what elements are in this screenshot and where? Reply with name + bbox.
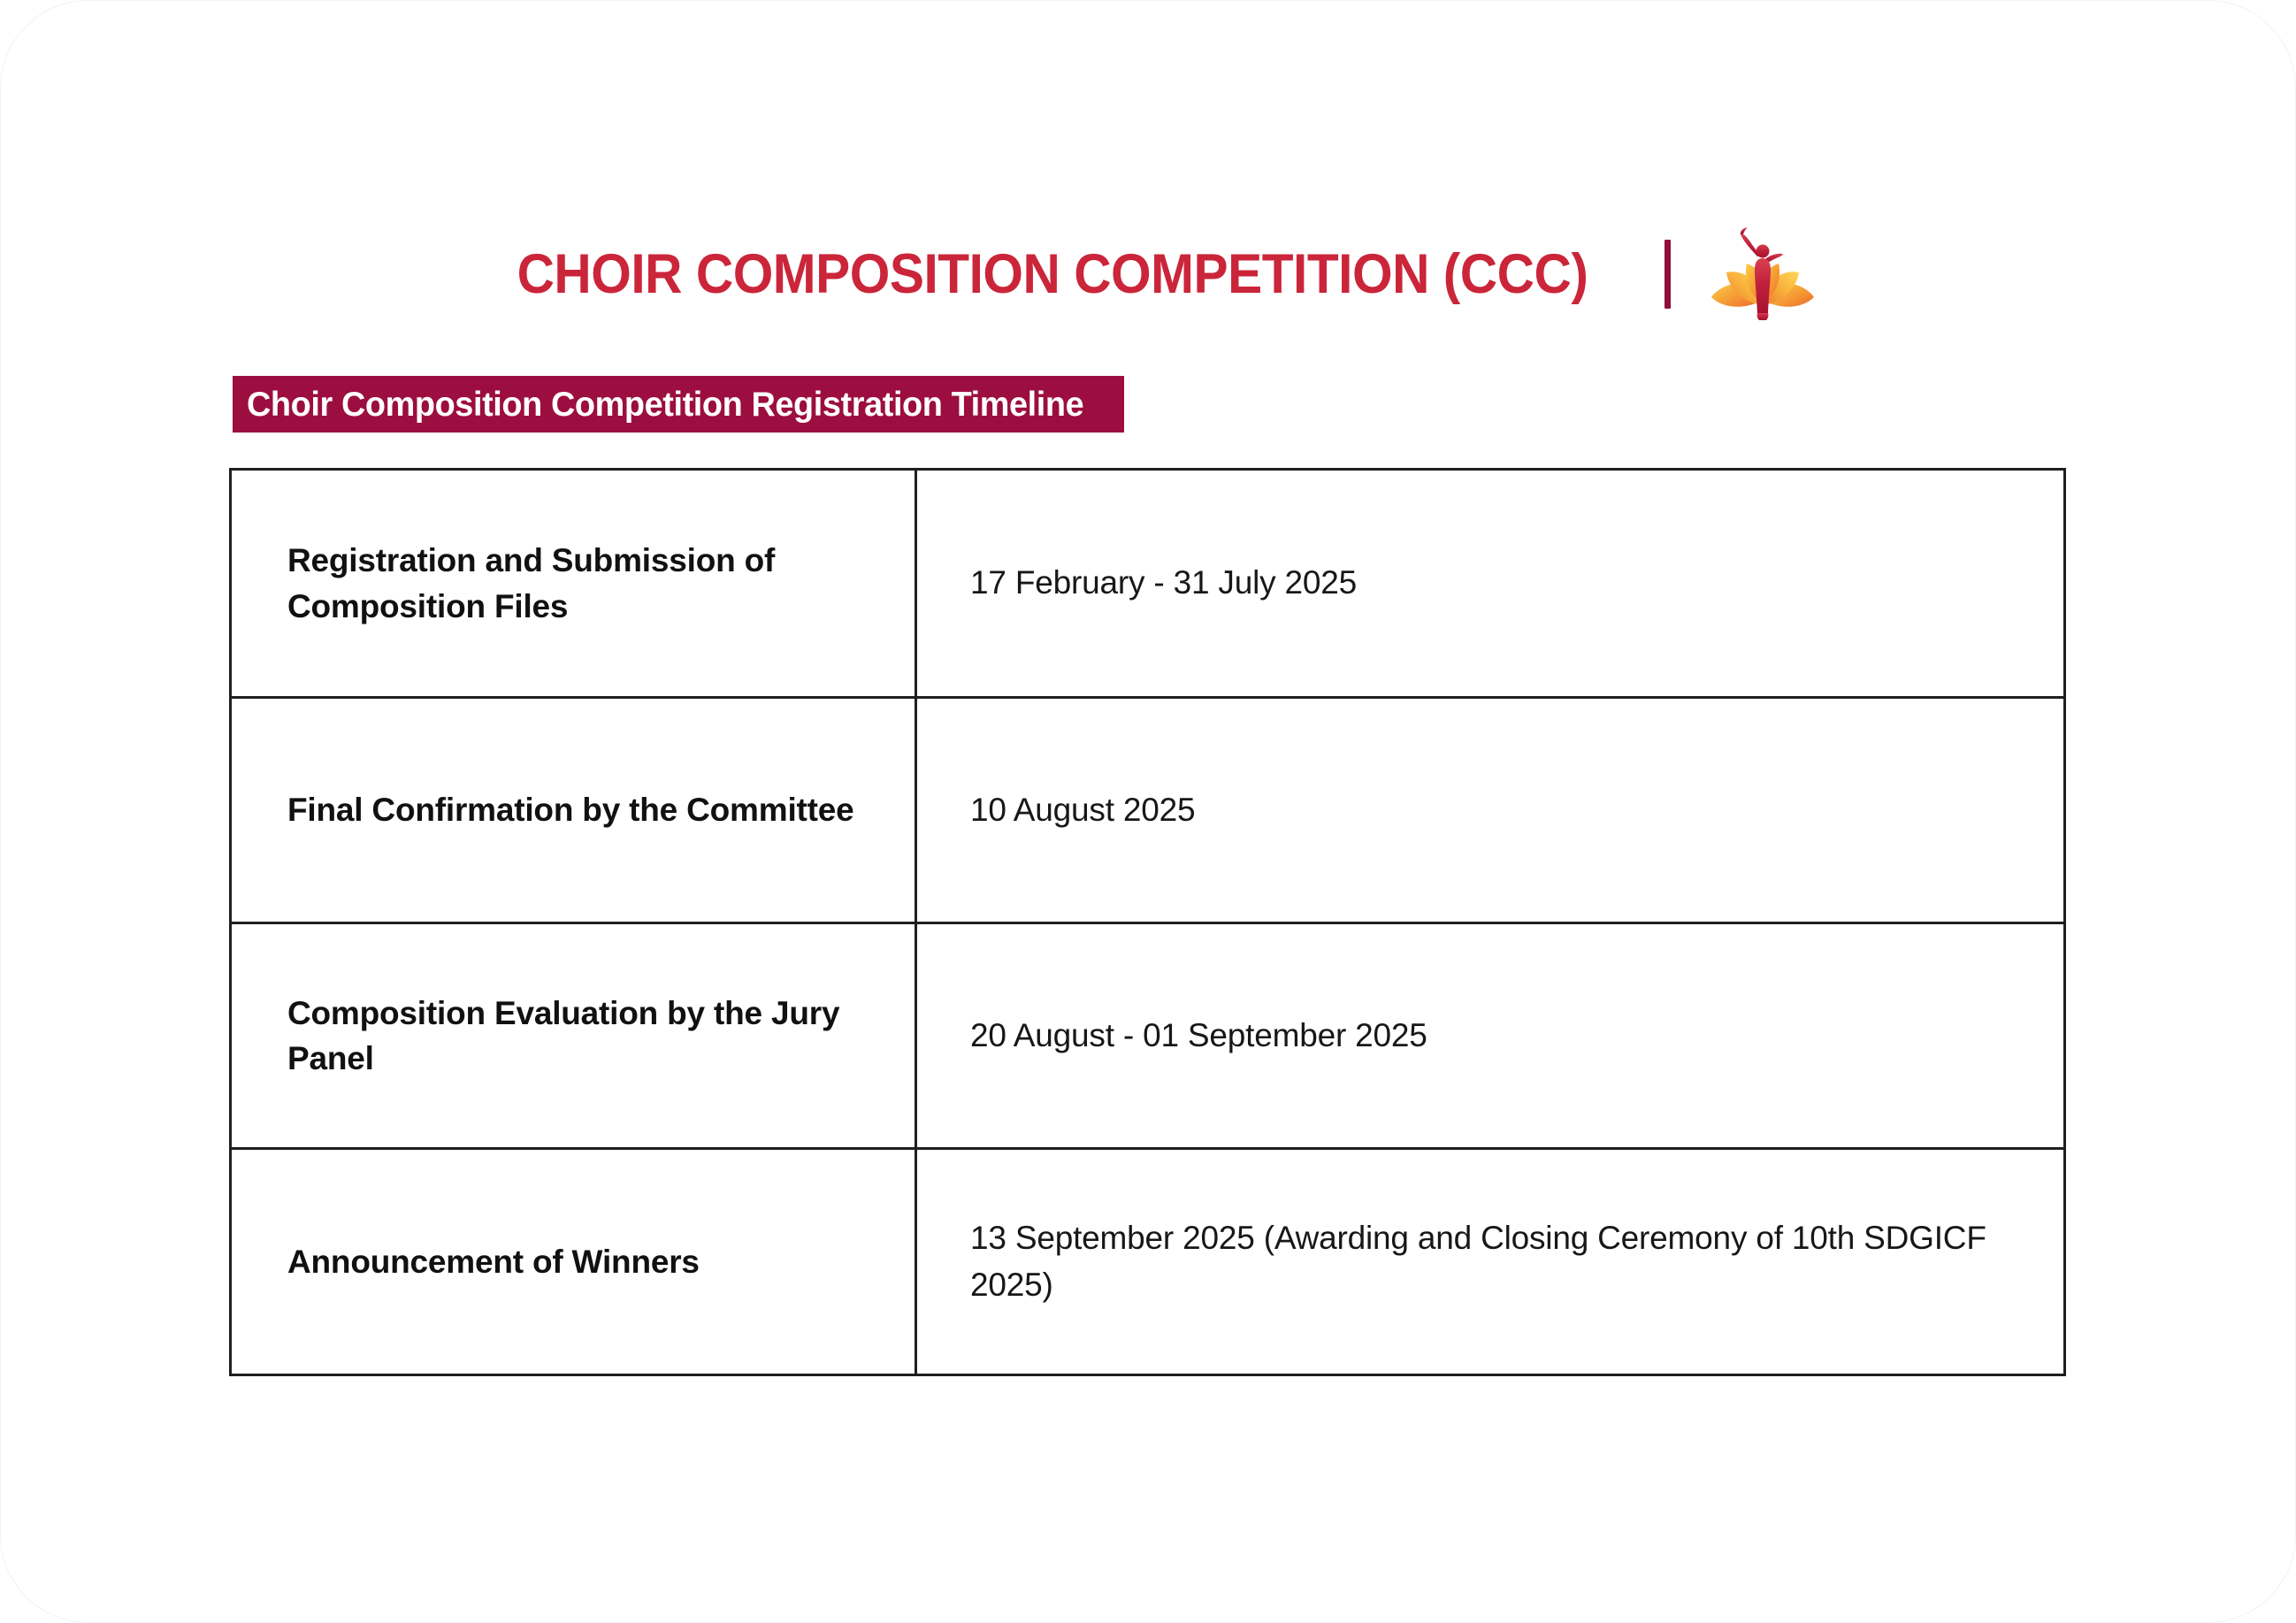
section-heading-label: Choir Composition Competition Registrati…	[247, 387, 1083, 422]
poster-page: CHOIR COMPOSITION COMPETITION (CCC)	[0, 0, 2296, 1623]
milestone-date: 17 February - 31 July 2025	[916, 470, 2065, 698]
milestone-label: Final Confirmation by the Committee	[231, 698, 916, 923]
milestone-date: 20 August - 01 September 2025	[916, 923, 2065, 1149]
page-header: CHOIR COMPOSITION COMPETITION (CCC)	[1, 226, 2296, 323]
table-row: Composition Evaluation by the Jury Panel…	[231, 923, 2065, 1149]
milestone-label: Registration and Submission of Compositi…	[231, 470, 916, 698]
sdgicf-dancer-lotus-logo	[1704, 226, 1821, 322]
page-title: CHOIR COMPOSITION COMPETITION (CCC)	[517, 247, 1588, 302]
table-row: Registration and Submission of Compositi…	[231, 470, 2065, 698]
table-row: Final Confirmation by the Committee 10 A…	[231, 698, 2065, 923]
title-divider	[1665, 240, 1671, 309]
table-row: Announcement of Winners 13 September 202…	[231, 1149, 2065, 1375]
section-heading-bar: Choir Composition Competition Registrati…	[233, 376, 1124, 433]
milestone-date: 10 August 2025	[916, 698, 2065, 923]
milestone-label: Composition Evaluation by the Jury Panel	[231, 923, 916, 1149]
registration-timeline-table: Registration and Submission of Compositi…	[229, 468, 2066, 1376]
milestone-label: Announcement of Winners	[231, 1149, 916, 1375]
milestone-date: 13 September 2025 (Awarding and Closing …	[916, 1149, 2065, 1375]
